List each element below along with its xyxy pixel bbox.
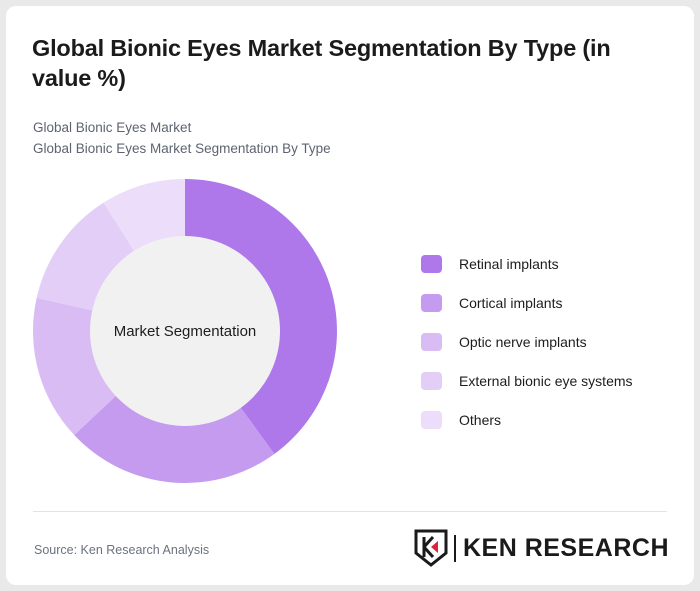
subtitle-line-segmentation: Global Bionic Eyes Market Segmentation B… — [33, 138, 633, 159]
donut-hole — [90, 236, 280, 426]
footer-divider — [33, 511, 667, 512]
legend-swatch-icon — [421, 372, 442, 390]
ken-research-shield-icon — [414, 529, 448, 567]
page-title: Global Bionic Eyes Market Segmentation B… — [32, 33, 657, 93]
legend-item[interactable]: External bionic eye systems — [421, 361, 671, 400]
legend-swatch-icon — [421, 333, 442, 351]
brand-logo: KEN RESEARCH — [414, 528, 669, 568]
legend-item[interactable]: Cortical implants — [421, 283, 671, 322]
subtitle-block: Global Bionic Eyes Market Global Bionic … — [33, 117, 633, 160]
brand-name: KEN RESEARCH — [463, 536, 669, 561]
donut-chart: Market Segmentation — [32, 178, 338, 484]
legend-swatch-icon — [421, 411, 442, 429]
brand-separator — [454, 535, 456, 562]
legend-swatch-icon — [421, 294, 442, 312]
legend-item[interactable]: Others — [421, 400, 671, 439]
chart-card: Global Bionic Eyes Market Segmentation B… — [6, 6, 694, 585]
legend-item[interactable]: Optic nerve implants — [421, 322, 671, 361]
legend-item-label: Optic nerve implants — [459, 334, 587, 350]
subtitle-line-market: Global Bionic Eyes Market — [33, 117, 633, 138]
legend-item[interactable]: Retinal implants — [421, 244, 671, 283]
legend-item-label: Retinal implants — [459, 256, 559, 272]
legend-swatch-icon — [421, 255, 442, 273]
chart-area: Market Segmentation Retinal implantsCort… — [6, 166, 694, 506]
legend-item-label: Cortical implants — [459, 295, 562, 311]
chart-legend: Retinal implantsCortical implantsOptic n… — [421, 244, 671, 439]
donut-chart-svg — [32, 178, 338, 484]
source-note: Source: Ken Research Analysis — [34, 543, 209, 557]
legend-item-label: Others — [459, 412, 501, 428]
legend-item-label: External bionic eye systems — [459, 373, 633, 389]
